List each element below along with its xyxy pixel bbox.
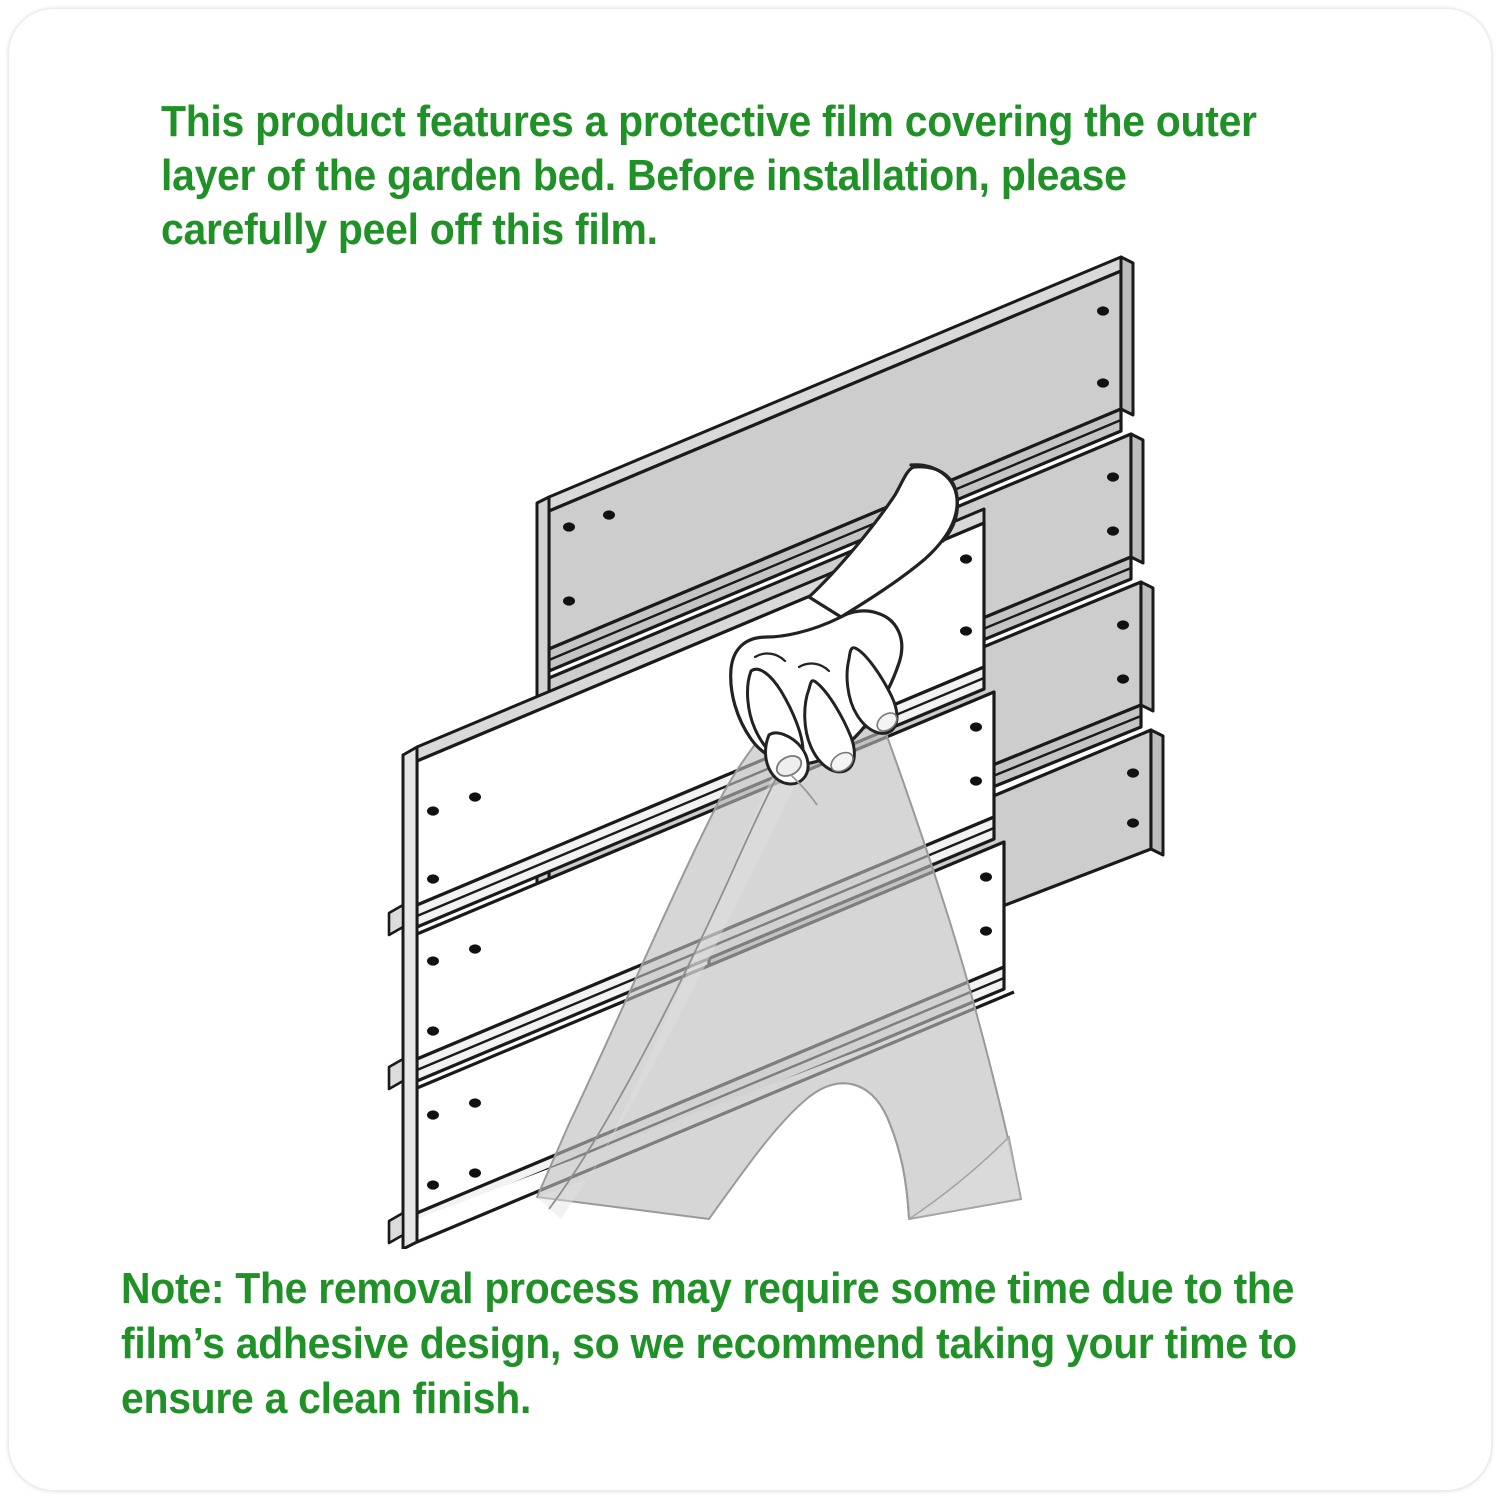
screw-hole [980, 926, 992, 935]
screw-hole [563, 596, 575, 605]
screw-hole [970, 722, 982, 731]
screw-hole [469, 792, 481, 801]
upper-panel-right-flange-4 [1151, 730, 1163, 855]
screw-hole [960, 626, 972, 635]
lower-panel-left-notch-3 [389, 1213, 403, 1243]
screw-hole [469, 1168, 481, 1177]
screw-hole [1097, 378, 1109, 387]
screw-hole [563, 522, 575, 531]
screw-hole [427, 874, 439, 883]
screw-hole [1107, 472, 1119, 481]
screw-hole [427, 806, 439, 815]
screw-hole [427, 1110, 439, 1119]
upper-panel-right-flange [1121, 257, 1133, 415]
lower-panel-left-notch-2 [389, 1059, 403, 1089]
screw-hole [980, 872, 992, 881]
screw-hole [427, 1026, 439, 1035]
upper-panel-right-flange-2 [1131, 434, 1143, 563]
screw-hole [603, 510, 615, 519]
screw-hole [970, 776, 982, 785]
screw-hole [469, 944, 481, 953]
illustration-figure [9, 219, 1492, 1249]
garden-bed-film-peel-diagram [9, 219, 1492, 1249]
screw-hole [427, 956, 439, 965]
screw-hole [1127, 818, 1139, 827]
note-text: Note: The removal process may require so… [121, 1261, 1321, 1426]
screw-hole [1127, 768, 1139, 777]
screw-hole [427, 1180, 439, 1189]
upper-panel-right-flange-3 [1141, 582, 1153, 711]
lower-panel-left-flange [403, 747, 417, 1249]
screw-hole [1117, 674, 1129, 683]
screw-hole [1117, 620, 1129, 629]
screw-hole [1107, 526, 1119, 535]
screw-hole [469, 1098, 481, 1107]
screw-hole [960, 554, 972, 563]
lower-panel-left-notch-1 [389, 905, 403, 935]
instruction-card: This product features a protective film … [8, 8, 1492, 1491]
screw-hole [1097, 306, 1109, 315]
